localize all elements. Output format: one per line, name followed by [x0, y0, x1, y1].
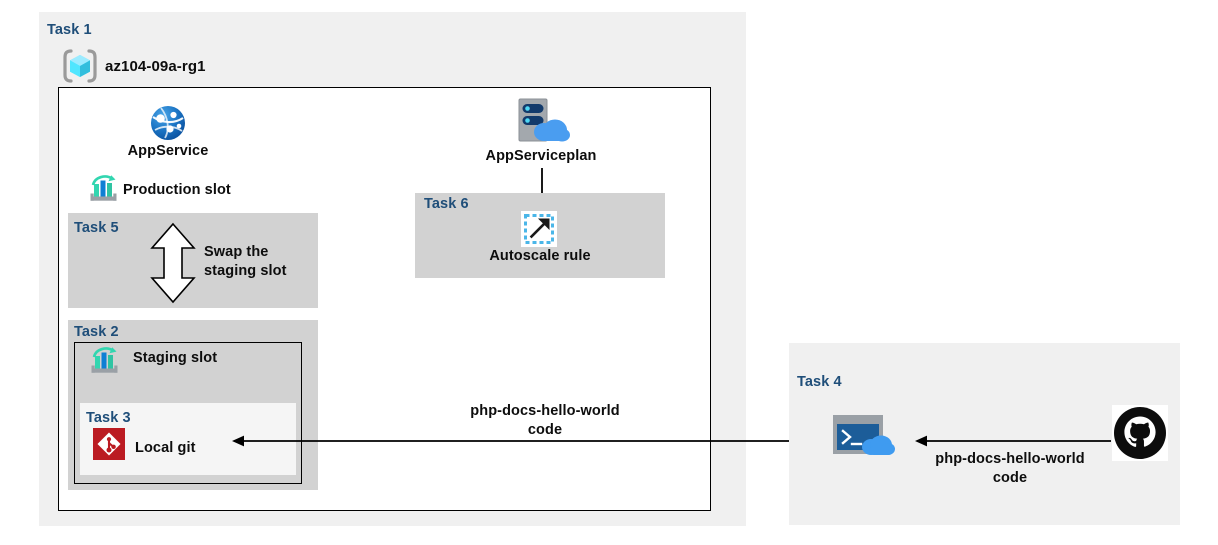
resource-group-cube-icon	[61, 47, 99, 85]
task5-action-line2: staging slot	[204, 263, 287, 279]
deployment-slot-icon-staging	[89, 346, 121, 376]
staging-slot-label: Staging slot	[133, 350, 217, 366]
local-git-label: Local git	[135, 440, 196, 456]
task6-label: Task 6	[424, 196, 469, 212]
resource-group-name: az104-09a-rg1	[105, 58, 206, 75]
task1-label: Task 1	[47, 22, 92, 38]
appservice-label: AppService	[88, 143, 248, 159]
app-service-globe-icon	[148, 103, 188, 143]
center-arrow-label-line1: php-docs-hello-world	[470, 403, 619, 419]
task3-label: Task 3	[86, 410, 131, 426]
task5-action-line1: Swap the	[204, 244, 268, 260]
git-logo-icon	[93, 428, 125, 460]
deployment-slot-icon-production	[88, 174, 120, 204]
task5-action-label: Swap the staging slot	[204, 243, 324, 280]
cloudshell-to-localgit-arrow	[232, 432, 818, 450]
task4-arrow-label-line2: code	[993, 470, 1027, 486]
task5-label: Task 5	[74, 220, 119, 236]
autoscale-rule-label: Autoscale rule	[444, 248, 636, 264]
autoscale-rule-icon	[521, 211, 557, 247]
github-octocat-icon	[1112, 405, 1168, 461]
diagram-canvas: Task 1 az104-09a-rg1	[0, 0, 1218, 545]
task4-arrow-label-line1: php-docs-hello-world	[935, 451, 1084, 467]
task4-arrow-label: php-docs-hello-world code	[920, 450, 1100, 487]
github-to-cloudshell-arrow	[915, 432, 1111, 450]
app-service-plan-server-cloud-icon	[510, 97, 572, 145]
appserviceplan-label: AppServiceplan	[446, 148, 636, 164]
task2-label: Task 2	[74, 324, 119, 340]
task4-label: Task 4	[797, 374, 842, 390]
production-slot-label: Production slot	[123, 182, 231, 198]
double-arrow-up-down-icon	[146, 222, 200, 304]
cloud-shell-icon	[833, 415, 897, 458]
